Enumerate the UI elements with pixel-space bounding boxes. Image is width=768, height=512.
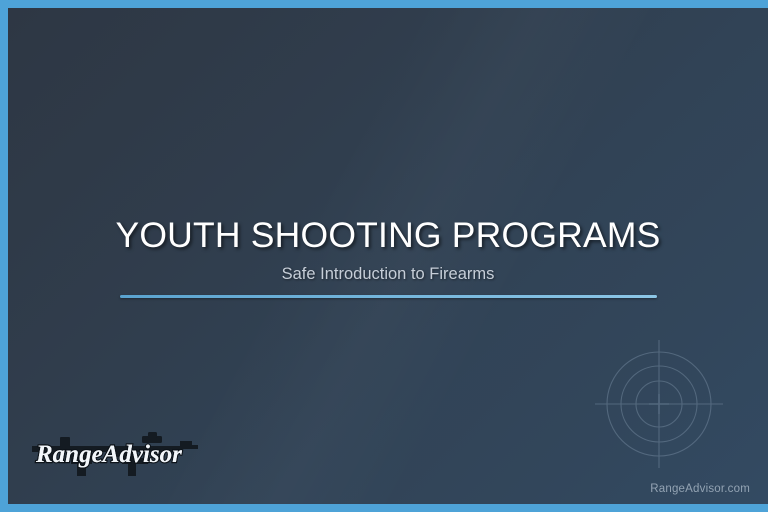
title-divider	[120, 295, 657, 298]
logo-wordmark-fill: RangeAdvisor	[35, 441, 182, 468]
rangeadvisor-logo: RangeAdvisor RangeAdvisor	[30, 424, 202, 486]
presentation-slide: YOUTH SHOOTING PROGRAMS Safe Introductio…	[0, 0, 768, 512]
title-block: YOUTH SHOOTING PROGRAMS Safe Introductio…	[8, 213, 768, 298]
slide-content-area: YOUTH SHOOTING PROGRAMS Safe Introductio…	[8, 8, 768, 504]
page-title: YOUTH SHOOTING PROGRAMS	[8, 213, 768, 257]
page-subtitle: Safe Introduction to Firearms	[8, 263, 768, 285]
crosshair-target-icon	[593, 338, 725, 470]
footer-website-label: RangeAdvisor.com	[650, 483, 750, 495]
